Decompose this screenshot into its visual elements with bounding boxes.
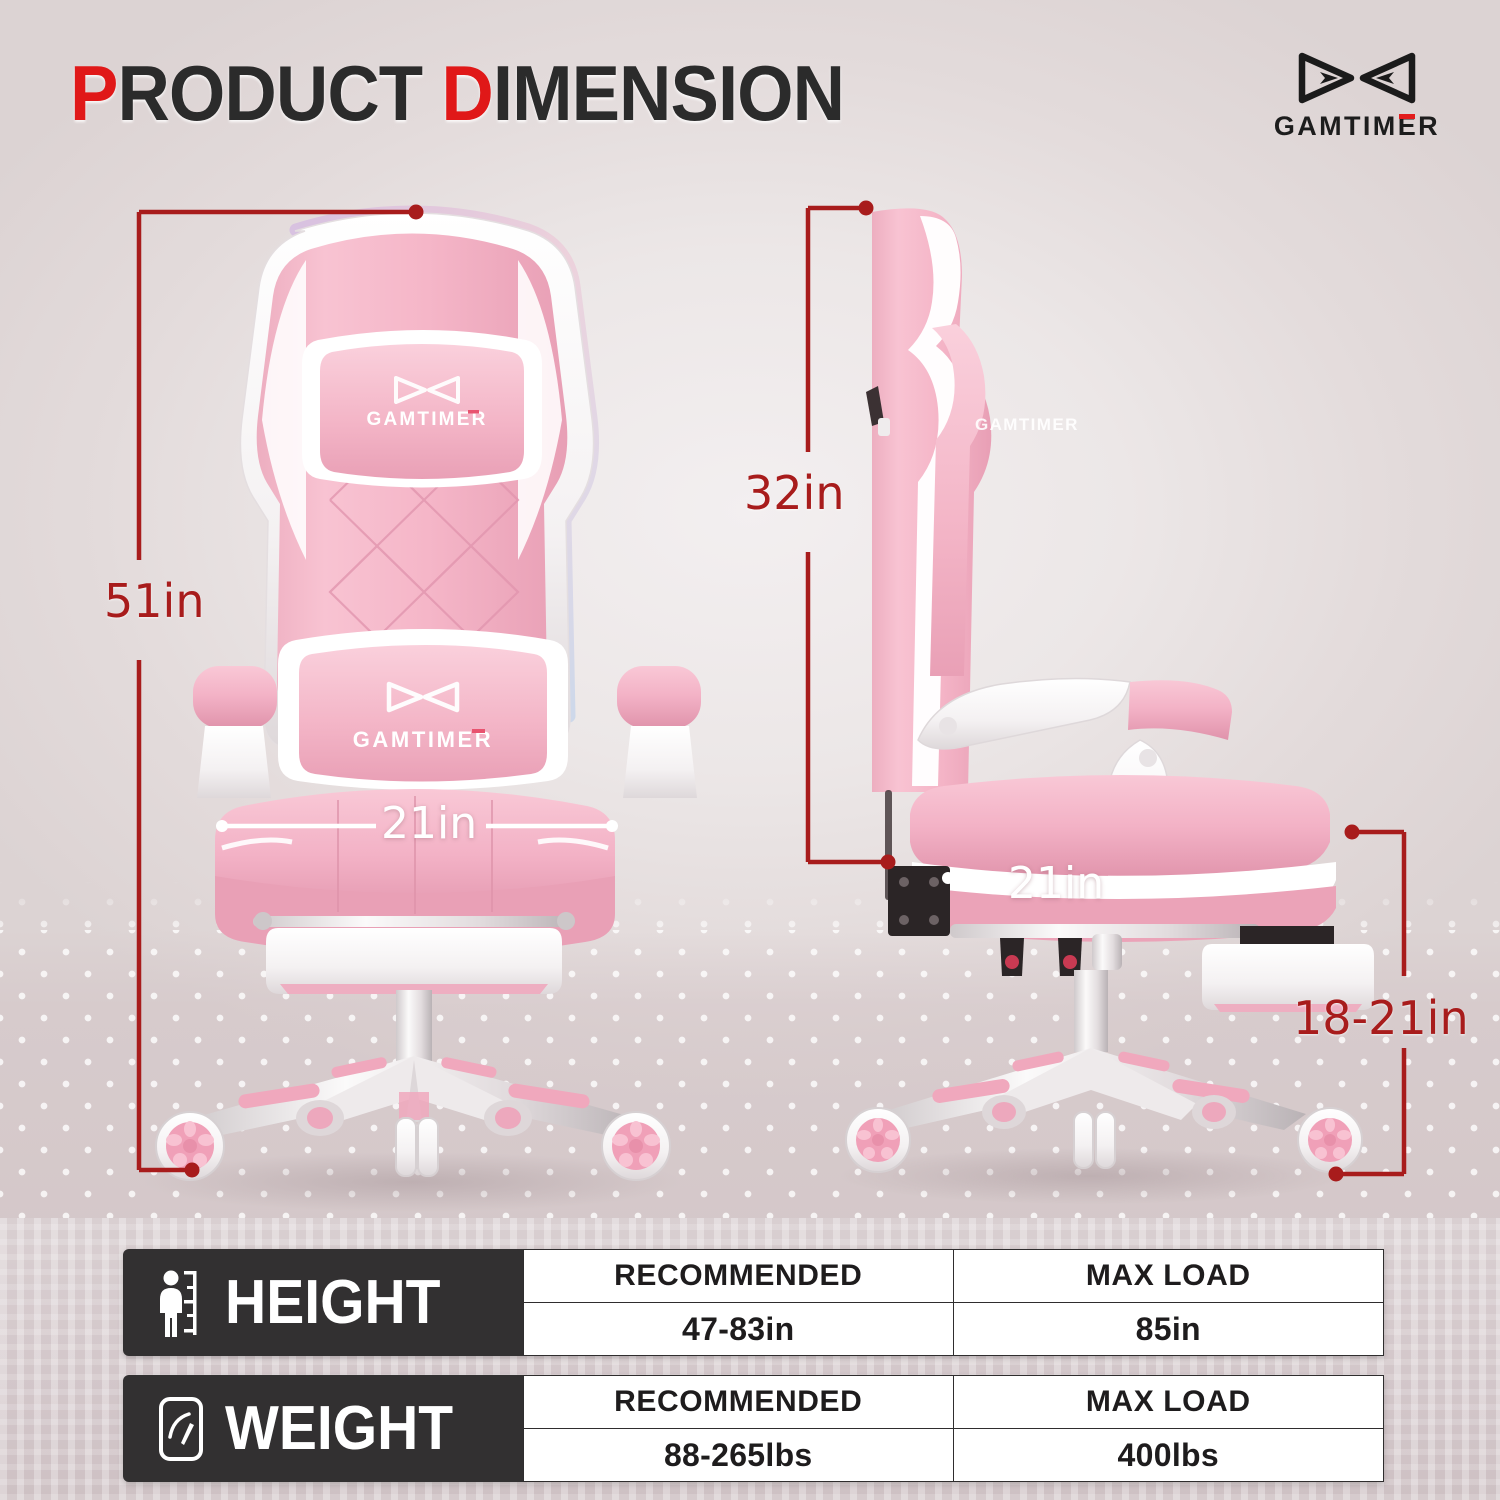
dimension-label-seat-width: 21in	[381, 802, 477, 846]
dimension-endpoint-dot	[185, 1163, 200, 1178]
spec-col-recommended-height: RECOMMENDED 47-83in	[523, 1249, 954, 1356]
spec-value-recommended-weight: 88-265lbs	[523, 1429, 954, 1482]
spec-value-maxload-height: 85in	[954, 1303, 1385, 1356]
chair-base-side	[846, 1048, 1362, 1172]
dimension-endpoint-dot	[409, 205, 424, 220]
spec-col-recommended-weight: RECOMMENDED 88-265lbs	[523, 1375, 954, 1482]
dimension-label-seat-depth: 21in	[1008, 862, 1104, 906]
spec-cells-weight: RECOMMENDED 88-265lbs MAX LOAD 400lbs	[523, 1375, 1384, 1482]
spec-cells-height: RECOMMENDED 47-83in MAX LOAD 85in	[523, 1249, 1384, 1356]
spec-header-recommended-weight: RECOMMENDED	[523, 1375, 954, 1429]
armrest-left	[193, 666, 277, 798]
armrest-right	[617, 666, 701, 798]
spec-header-maxload-weight: MAX LOAD	[954, 1375, 1385, 1429]
seat-cushion-side	[910, 775, 1336, 942]
spec-col-maxload-weight: MAX LOAD 400lbs	[954, 1375, 1385, 1482]
spec-header-recommended-height: RECOMMENDED	[523, 1249, 954, 1303]
lumbar-pillow: GAMTIMER	[278, 629, 568, 790]
spec-value-maxload-weight: 400lbs	[954, 1429, 1385, 1482]
scale-gauge-icon	[151, 1393, 211, 1465]
dimension-label-back-height: 32in	[744, 470, 844, 516]
person-ruler-icon	[151, 1267, 211, 1339]
dimension-label-seat-height: 18-21in	[1293, 995, 1469, 1041]
headrest-pillow: GAMTIMER	[302, 330, 542, 488]
spec-table: HEIGHT RECOMMENDED 47-83in MAX LOAD 85in	[123, 1249, 1384, 1482]
footrest-front	[253, 912, 575, 994]
spec-label-weight: WEIGHT	[123, 1375, 523, 1482]
spec-label-text-weight: WEIGHT	[225, 1398, 453, 1460]
front-view-chair: GAMTIMER GAMTIMER	[139, 205, 701, 1213]
spec-label-text-height: HEIGHT	[225, 1272, 440, 1334]
spec-col-maxload-height: MAX LOAD 85in	[954, 1249, 1385, 1356]
infographic-canvas: PRODUCT DIMENSION GAMTIMER	[0, 0, 1500, 1500]
spec-label-height: HEIGHT	[123, 1249, 523, 1356]
spec-header-maxload-height: MAX LOAD	[954, 1249, 1385, 1303]
svg-text:GAMTIMER: GAMTIMER	[975, 415, 1079, 434]
dimension-label-total-height: 51in	[104, 578, 204, 624]
spec-row-height: HEIGHT RECOMMENDED 47-83in MAX LOAD 85in	[123, 1249, 1384, 1356]
spec-row-weight: WEIGHT RECOMMENDED 88-265lbs MAX LOAD 40…	[123, 1375, 1384, 1482]
spec-value-recommended-height: 47-83in	[523, 1303, 954, 1356]
side-view-chair: GAMTIMER	[808, 201, 1404, 1205]
